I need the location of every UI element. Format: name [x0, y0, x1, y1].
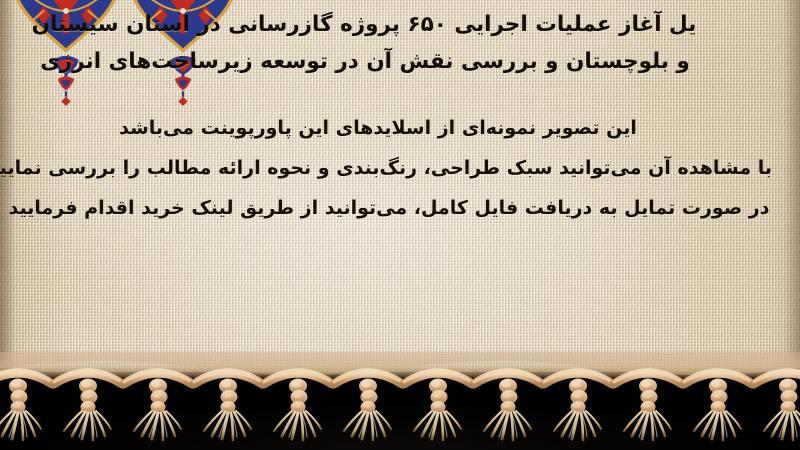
- body-line-2: با مشاهده آن می‌توانید سبک طراحی، رنگ‌بن…: [0, 148, 772, 188]
- title-line-2: و بلوچستان و بررسی نقش آن در توسعه زیرسا…: [0, 43, 730, 80]
- body-line-1: این تصویر نمونه‌ای از اسلایدهای این پاور…: [0, 108, 756, 148]
- bottom-black-band: [0, 372, 800, 450]
- presentation-slide: یل آغاز عملیات اجرایی ۶۵۰ پروژه گازرسانی…: [0, 0, 800, 450]
- body-line-3: در صورت تمایل به دریافت فایل کامل، می‌تو…: [0, 188, 778, 228]
- slide-body: این تصویر نمونه‌ای از اسلایدهای این پاور…: [0, 108, 800, 228]
- title-line-1: یل آغاز عملیات اجرایی ۶۵۰ پروژه گازرسانی…: [0, 6, 728, 43]
- cloth-bottom-edge: [0, 356, 800, 378]
- slide-text-layer: یل آغاز عملیات اجرایی ۶۵۰ پروژه گازرسانی…: [0, 0, 800, 392]
- slide-title: یل آغاز عملیات اجرایی ۶۵۰ پروژه گازرسانی…: [0, 6, 796, 80]
